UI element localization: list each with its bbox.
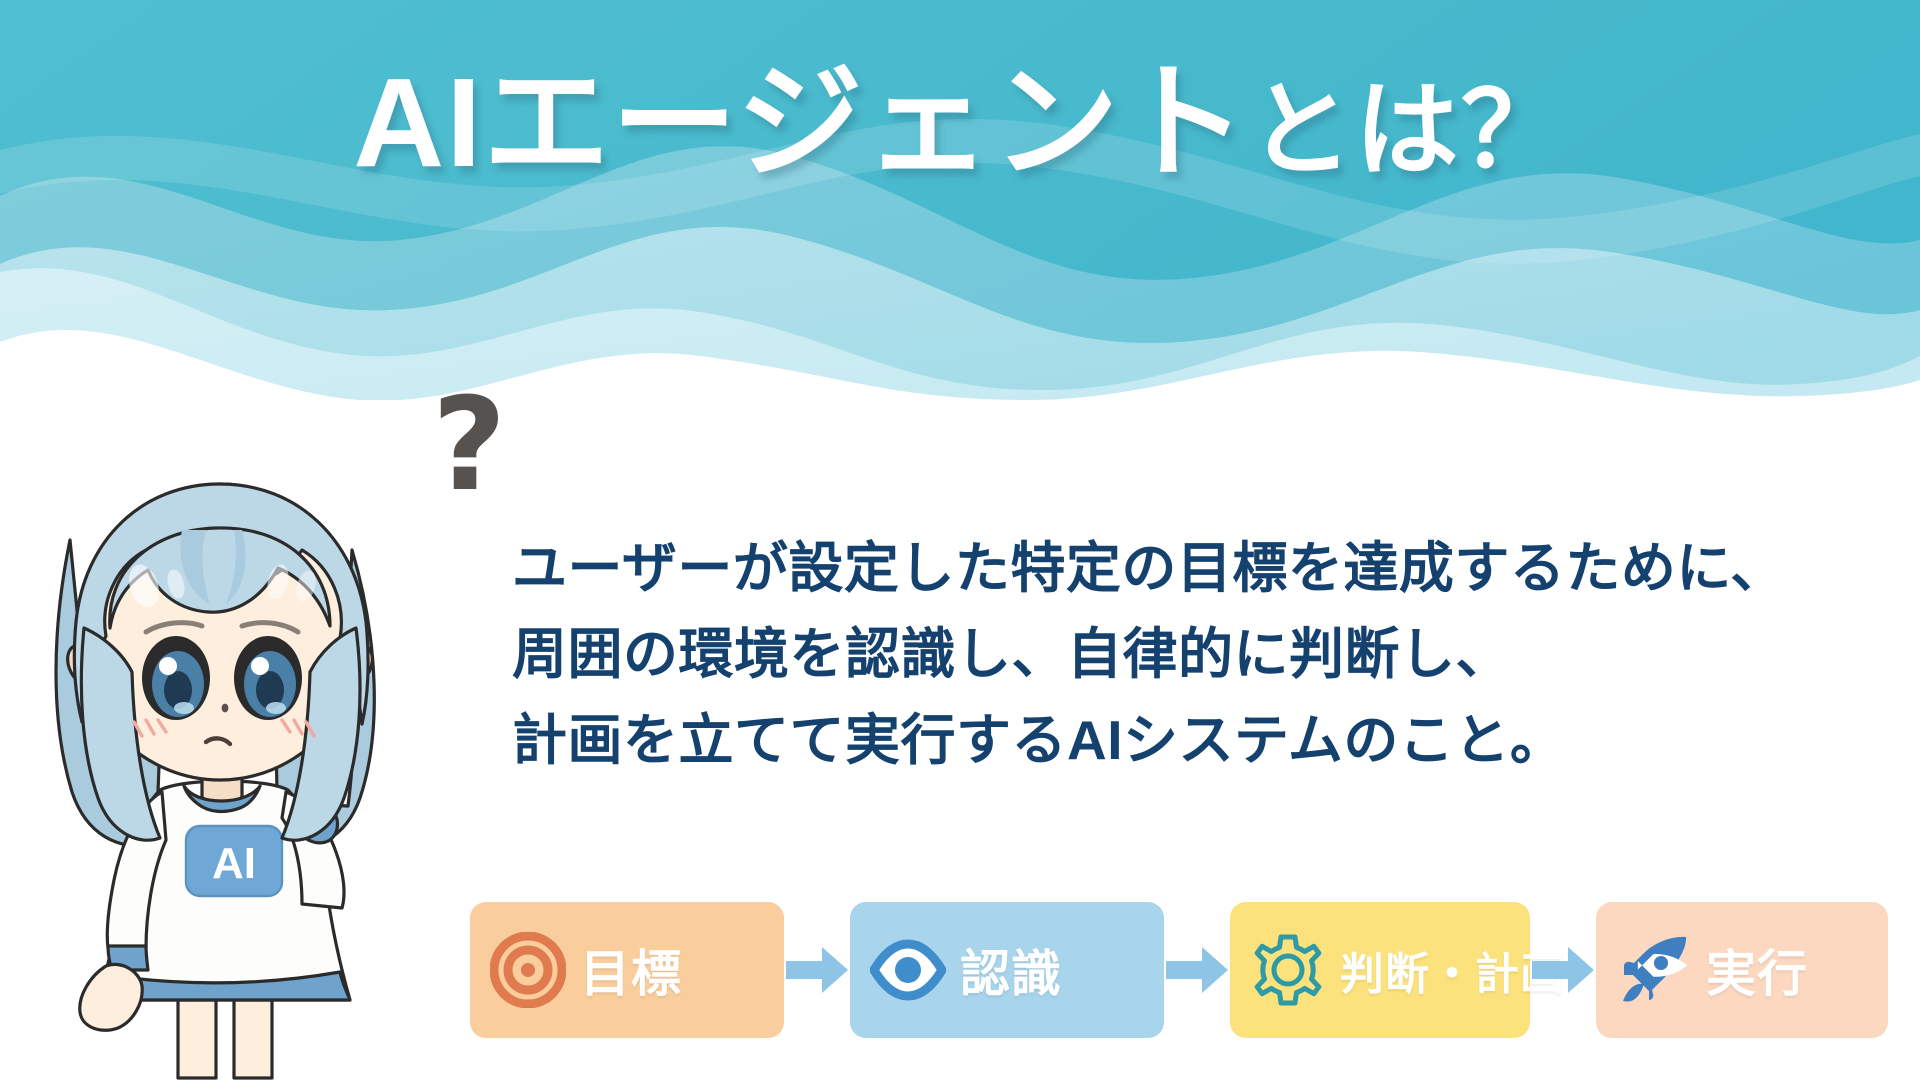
flow-step-plan[interactable]: 判断・計画: [1230, 902, 1530, 1038]
header-wave-band: [0, 0, 1920, 400]
flow-step-goal[interactable]: 目標: [470, 902, 784, 1038]
flow-step-perceive[interactable]: 認識: [850, 902, 1164, 1038]
gear-icon: [1250, 932, 1326, 1008]
target-icon: [490, 932, 566, 1008]
eye-icon: [870, 932, 946, 1008]
description-line-1: ユーザーが設定した特定の目標を達成するために、: [512, 526, 1762, 612]
arrow-right-icon: [1530, 944, 1596, 996]
agent-process-flow: 目標 認識: [470, 900, 1888, 1040]
shirt-ai-badge-text: AI: [212, 839, 256, 888]
description-line-2: 周囲の環境を認識し、自律的に判断し、: [512, 612, 1762, 698]
infographic-canvas: AIエージェントとは？ ?: [0, 0, 1920, 1080]
description-paragraph: ユーザーが設定した特定の目標を達成するために、 周囲の環境を認識し、自律的に判断…: [512, 526, 1762, 783]
flow-step-perceive-label: 認識: [960, 934, 1062, 1006]
question-mark-icon: ?: [432, 382, 506, 510]
arrow-right-icon: [784, 944, 850, 996]
ai-mascot-girl-illustration: AI: [10, 360, 430, 1080]
arrow-right-icon: [1164, 944, 1230, 996]
flow-step-execute-label: 実行: [1706, 934, 1808, 1006]
rocket-icon: [1616, 932, 1692, 1008]
flow-step-goal-label: 目標: [580, 934, 682, 1006]
description-line-3: 計画を立てて実行するAIシステムのこと。: [512, 698, 1762, 784]
flow-step-execute[interactable]: 実行: [1596, 902, 1888, 1038]
